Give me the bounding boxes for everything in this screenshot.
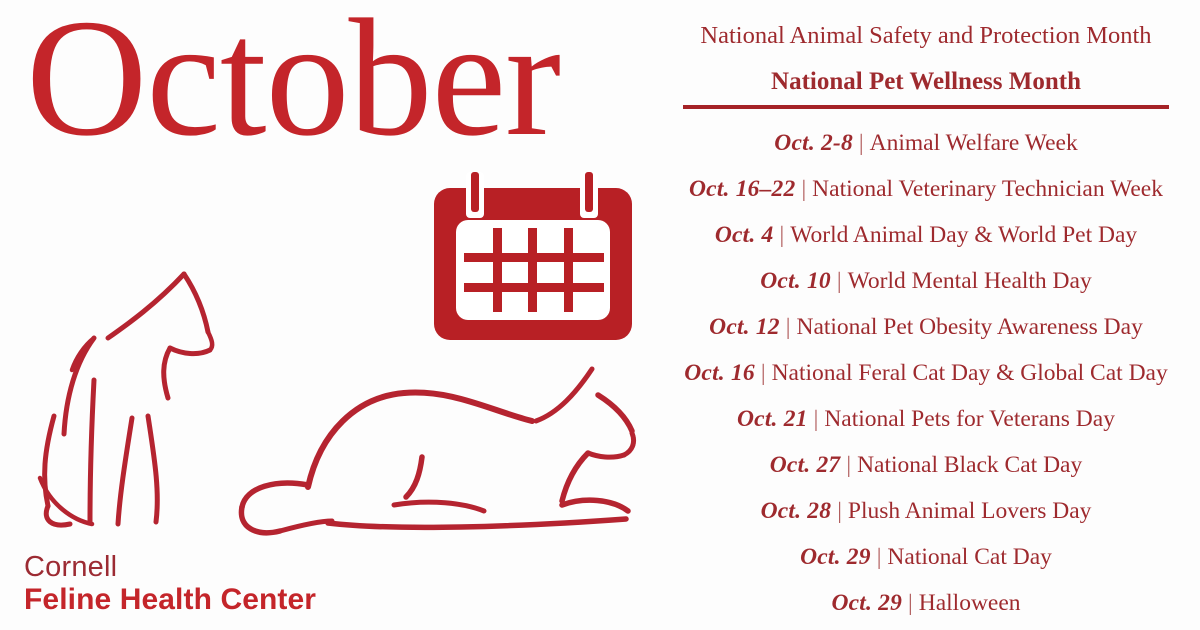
event-name: Halloween xyxy=(919,592,1021,616)
event-date: Oct. 16–22 xyxy=(689,178,795,202)
event-name: National Cat Day xyxy=(887,546,1051,570)
event-name: National Veterinary Technician Week xyxy=(812,178,1163,202)
event-separator: | xyxy=(831,270,848,294)
event-date: Oct. 10 xyxy=(760,270,831,294)
event-separator: | xyxy=(773,224,790,248)
list-item: Oct. 2-8|Animal Welfare Week xyxy=(668,121,1184,167)
event-name: World Animal Day & World Pet Day xyxy=(790,224,1137,248)
event-date: Oct. 27 xyxy=(770,454,841,478)
event-date: Oct. 12 xyxy=(709,316,780,340)
event-name: National Pet Obesity Awareness Day xyxy=(796,316,1142,340)
list-item: Oct. 16–22 |National Veterinary Technici… xyxy=(668,167,1184,213)
events-panel: National Animal Safety and Protection Mo… xyxy=(668,0,1184,630)
event-date: Oct. 28 xyxy=(761,500,832,524)
event-separator: | xyxy=(755,362,772,386)
header-divider xyxy=(683,105,1169,109)
event-name: Plush Animal Lovers Day xyxy=(848,500,1091,524)
list-item: Oct. 29|Halloween xyxy=(668,581,1184,627)
list-item: Oct. 4|World Animal Day & World Pet Day xyxy=(668,213,1184,259)
poster-canvas: October xyxy=(0,0,1200,630)
cat-sitting-icon xyxy=(36,266,246,536)
list-item: Oct. 16|National Feral Cat Day & Global … xyxy=(668,351,1184,397)
event-date: Oct. 4 xyxy=(715,224,774,248)
event-date: Oct. 16 xyxy=(684,362,755,386)
event-date: Oct. 29 xyxy=(831,592,902,616)
event-separator: | xyxy=(840,454,857,478)
list-item: Oct. 21|National Pets for Veterans Day xyxy=(668,397,1184,443)
list-item: Oct. 10|World Mental Health Day xyxy=(668,259,1184,305)
event-separator: | xyxy=(902,592,919,616)
event-name: World Mental Health Day xyxy=(848,270,1092,294)
event-name: Animal Welfare Week xyxy=(870,132,1078,156)
cat-lying-icon xyxy=(236,355,656,545)
event-separator: | xyxy=(853,132,870,156)
header-secondary: National Pet Wellness Month xyxy=(668,67,1184,97)
logo-org-name: Cornell xyxy=(24,552,454,583)
event-date: Oct. 21 xyxy=(737,408,808,432)
list-item: Oct. 27|National Black Cat Day xyxy=(668,443,1184,489)
list-item: Oct. 28|Plush Animal Lovers Day xyxy=(668,489,1184,535)
list-item: Oct. 29|National Cat Day xyxy=(668,535,1184,581)
list-item: Oct. 12|National Pet Obesity Awareness D… xyxy=(668,305,1184,351)
left-panel: October xyxy=(0,0,660,630)
page-title: October xyxy=(26,0,560,162)
logo-unit-name: Feline Health Center xyxy=(24,583,454,617)
event-name: National Feral Cat Day & Global Cat Day xyxy=(772,362,1168,386)
event-separator: | xyxy=(780,316,797,340)
event-separator: | xyxy=(871,546,888,570)
events-list: Oct. 2-8|Animal Welfare WeekOct. 16–22 |… xyxy=(668,121,1184,627)
event-separator: | xyxy=(808,408,825,432)
event-name: National Black Cat Day xyxy=(857,454,1082,478)
event-name: National Pets for Veterans Day xyxy=(824,408,1115,432)
logo-block: Cornell Feline Health Center xyxy=(24,552,454,616)
header-primary: National Animal Safety and Protection Mo… xyxy=(668,22,1184,51)
event-separator: | xyxy=(795,178,812,202)
event-date: Oct. 2-8 xyxy=(774,132,853,156)
calendar-icon xyxy=(428,170,638,345)
event-date: Oct. 29 xyxy=(800,546,871,570)
event-separator: | xyxy=(831,500,848,524)
